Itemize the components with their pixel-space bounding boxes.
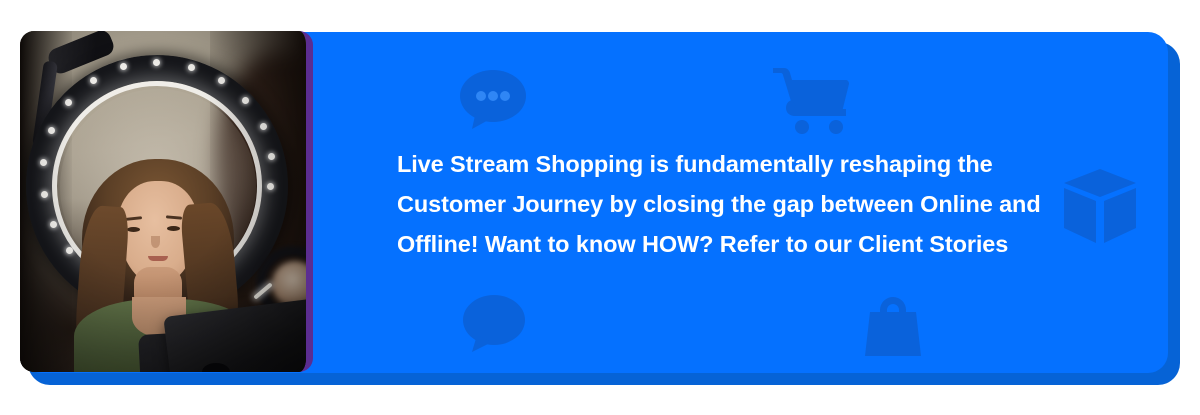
chat-bubble-dots-icon [454, 67, 528, 133]
live-stream-host-photo [20, 31, 313, 372]
headline-line-2: Customer Journey by closing the gap betw… [397, 184, 1097, 224]
banner-headline: Live Stream Shopping is fundamentally re… [397, 144, 1097, 264]
photo-image [20, 31, 306, 372]
shopping-bag-icon [862, 290, 924, 358]
headline-line-3: Offline! Want to know HOW? Refer to our … [397, 224, 1097, 264]
shopping-cart-icon [767, 57, 851, 137]
headline-line-1: Live Stream Shopping is fundamentally re… [397, 144, 1097, 184]
promo-banner: Live Stream Shopping is fundamentally re… [0, 0, 1200, 415]
chat-bubble-icon [457, 292, 527, 356]
